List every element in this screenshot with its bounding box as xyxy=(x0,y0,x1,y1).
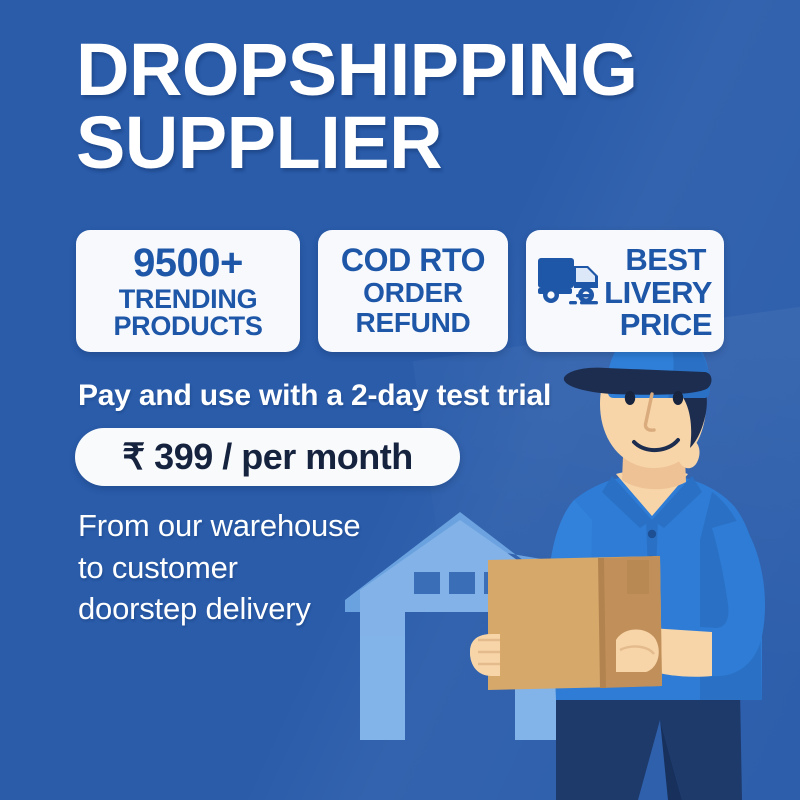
badge-delivery-line-3: PRICE xyxy=(526,309,712,342)
promo-poster: DROPSHIPPING SUPPLIER 9500+ TRENDING PRO… xyxy=(0,0,800,800)
feature-badges: 9500+ TRENDING PRODUCTS COD RTO ORDER RE… xyxy=(76,230,724,352)
badge-cod-line-3: REFUND xyxy=(341,308,485,338)
badge-best-delivery-price[interactable]: BEST LIVERY PRICE xyxy=(526,230,724,352)
tagline-line-1: From our warehouse xyxy=(78,505,360,547)
badge-trending-label-line-2: PRODUCTS xyxy=(113,313,262,340)
tagline-line-2: to customer xyxy=(78,547,360,589)
price-pill[interactable]: ₹ 399 / per month xyxy=(75,428,460,486)
cardboard-box xyxy=(470,556,662,690)
badge-delivery-line-2: LIVERY xyxy=(526,277,712,310)
badge-best-delivery-price-content: BEST LIVERY PRICE xyxy=(526,230,724,352)
background-sheen-secondary xyxy=(413,303,800,777)
badge-trending-label-line-1: TRENDING xyxy=(113,286,262,313)
trial-text: Pay and use with a 2-day test trial xyxy=(78,379,551,413)
price-value: ₹ 399 / per month xyxy=(122,436,412,478)
badge-cod-line-1: COD RTO xyxy=(341,244,485,278)
warehouse-silhouette xyxy=(345,512,575,740)
badge-cod-rto-refund[interactable]: COD RTO ORDER REFUND xyxy=(318,230,508,352)
badge-trending-products[interactable]: 9500+ TRENDING PRODUCTS xyxy=(76,230,300,352)
tagline: From our warehouse to customer doorstep … xyxy=(78,505,360,630)
title-line-1: DROPSHIPPING xyxy=(76,28,637,111)
page-title: DROPSHIPPING SUPPLIER xyxy=(76,34,746,179)
badge-product-count: 9500+ xyxy=(113,243,262,283)
title-line-2: SUPPLIER xyxy=(76,107,746,180)
badge-delivery-line-1: BEST xyxy=(526,244,712,277)
badge-cod-line-2: ORDER xyxy=(341,278,485,308)
badge-best-delivery-text: BEST LIVERY PRICE xyxy=(526,244,724,342)
tagline-line-3: doorstep delivery xyxy=(78,588,360,630)
badge-trending-products-content: 9500+ TRENDING PRODUCTS xyxy=(113,243,262,340)
badge-cod-rto-refund-content: COD RTO ORDER REFUND xyxy=(341,244,485,337)
